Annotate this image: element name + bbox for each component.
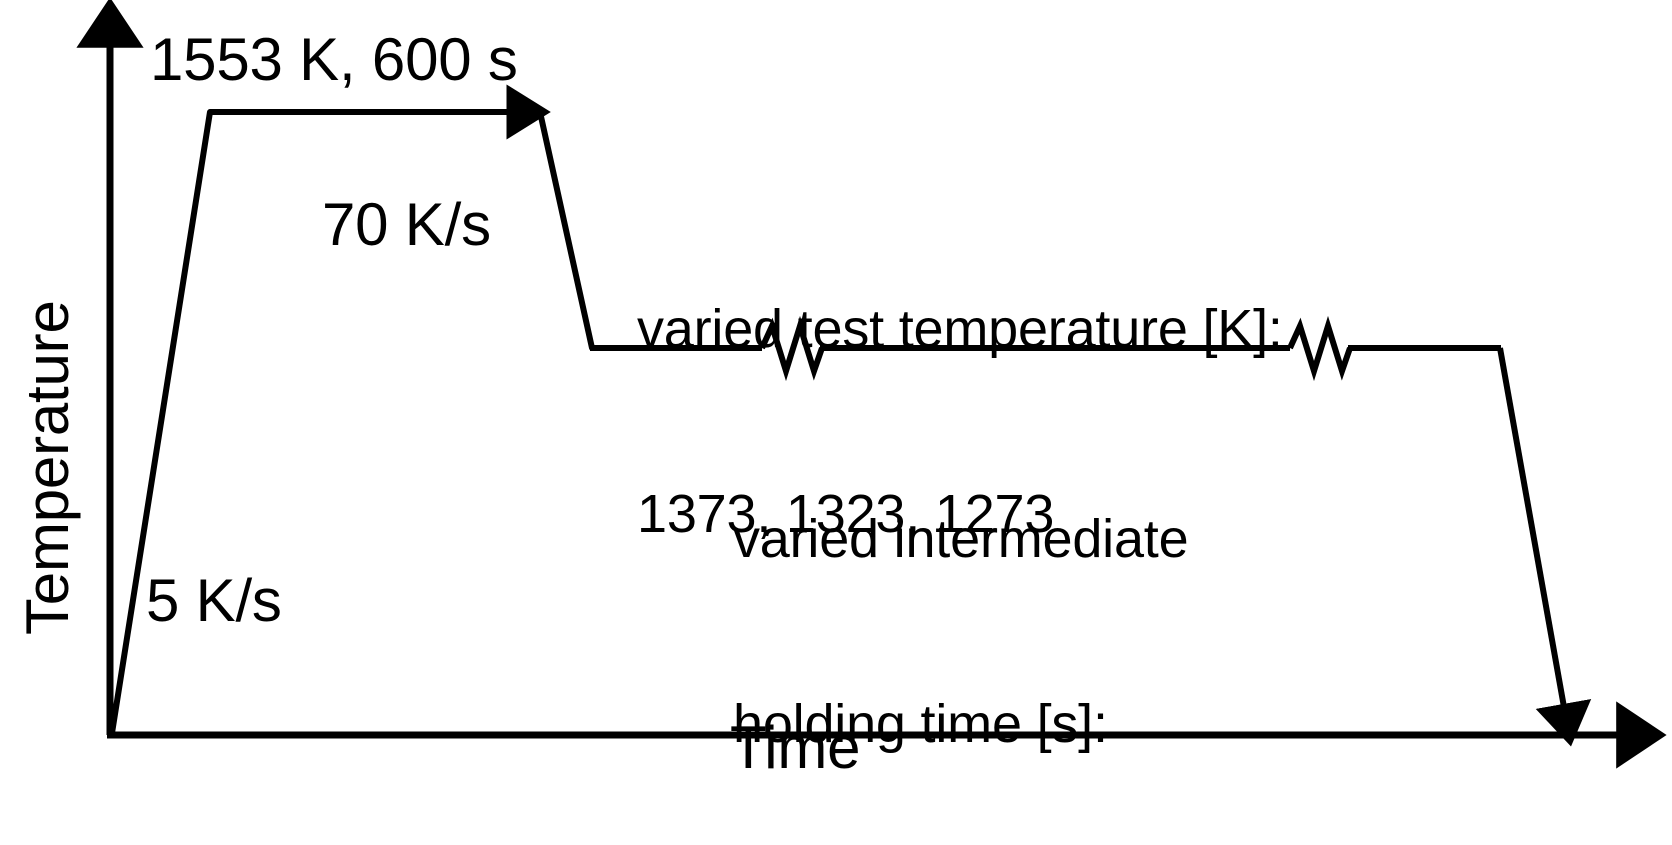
time-axis-label: Time (730, 714, 860, 782)
holding-time-title-line-1: varied intermediate (733, 509, 1188, 571)
final-quench-segment (1500, 348, 1567, 724)
heating-ramp-segment (112, 112, 210, 733)
heating-rate-label: 5 K/s (146, 567, 282, 635)
cooling-leg-segment (540, 112, 592, 348)
peak-hold-label: 1553 K, 600 s (150, 26, 518, 94)
temperature-axis-label: Temperature (14, 300, 82, 635)
cooling-rate-label: 70 K/s (322, 191, 491, 259)
axis-break-zigzag-icon-2 (1290, 326, 1350, 371)
test-temperature-title: varied test temperature [K]: (637, 299, 1283, 361)
figure-canvas: 1553 K, 600 s 70 K/s 5 K/s varied test t… (0, 0, 1672, 845)
